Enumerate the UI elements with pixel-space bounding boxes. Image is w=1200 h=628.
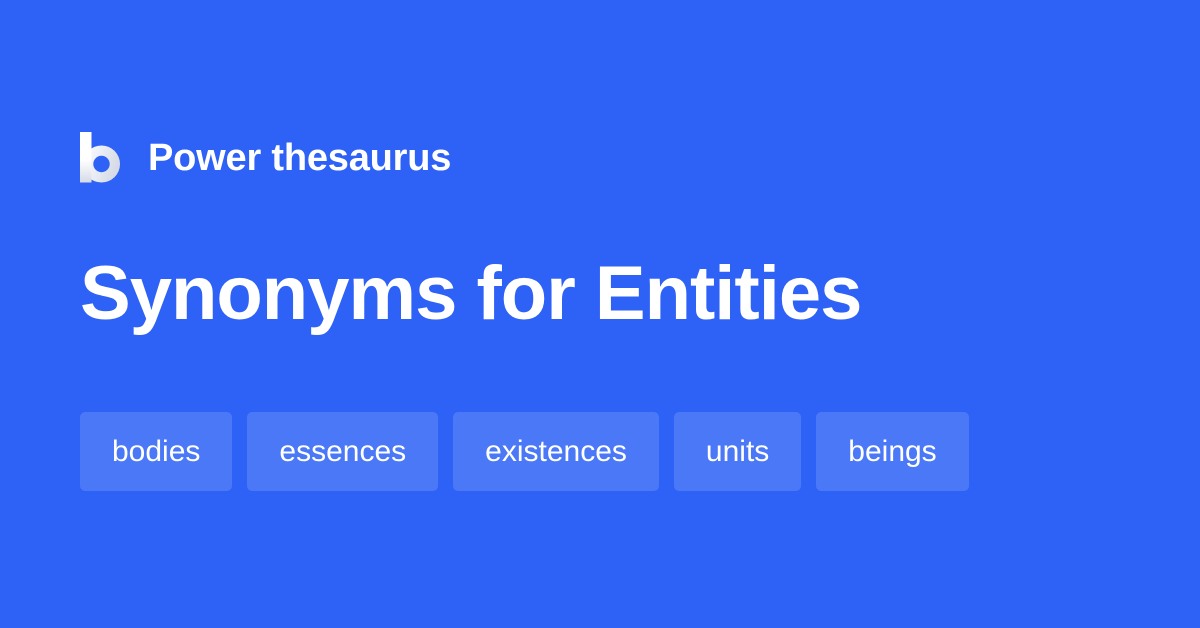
- brand-name: Power thesaurus: [148, 139, 451, 177]
- synonym-chip[interactable]: beings: [816, 412, 968, 491]
- share-card: Power thesaurus Synonyms for Entities bo…: [0, 0, 1200, 628]
- brand-lockup[interactable]: Power thesaurus: [80, 128, 451, 188]
- power-thesaurus-b-logo-icon: [80, 132, 120, 184]
- synonym-chip[interactable]: bodies: [80, 412, 232, 491]
- synonym-chip[interactable]: essences: [247, 412, 438, 491]
- page-title: Synonyms for Entities: [80, 248, 861, 340]
- synonym-chip[interactable]: units: [674, 412, 801, 491]
- synonym-chip-list: bodies essences existences units beings: [80, 412, 969, 491]
- synonym-chip[interactable]: existences: [453, 412, 659, 491]
